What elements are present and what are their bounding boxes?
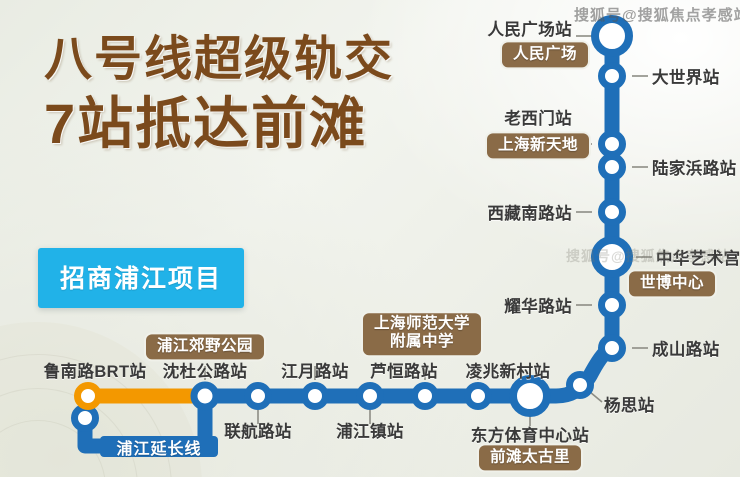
poi-pill-shnu-line2: 附属中学 [374,334,470,352]
station-label-lunan-road-brt: 鲁南路BRT站 [44,358,147,382]
poi-pill-pujiang-country-park: 浦江郊野公园 [144,332,266,361]
station-dot-chengshan-road[interactable] [602,338,623,359]
station-label-chengshan-road: 成山路站 [652,336,720,360]
watermark-top: 搜狐号@搜狐焦点孝感站 [574,4,740,25]
station-dot-lunan-road-brt[interactable] [78,386,99,407]
poi-pill-qiantan-taikoo: 前滩太古里 [477,443,583,472]
headline-block: 八号线超级轨交 7站抵达前滩 [44,36,394,152]
station-label-dashijie: 大世界站 [652,64,720,88]
station-label-renmin-square: 人民广场站 [488,16,573,40]
headline-line-1: 八号线超级轨交 [44,36,394,85]
extension-line-label: 浦江延长线 [116,435,201,459]
station-dot-xizang-south-road[interactable] [602,202,623,223]
station-dot-lujiabang-road[interactable] [602,157,623,178]
poi-pill-expo-center: 世博中心 [627,269,717,298]
poi-pill-renmin-square: 人民广场 [500,40,590,69]
station-dot-luheng-road[interactable] [415,386,436,407]
station-label-jiangyue-road: 江月路站 [281,358,349,382]
station-label-lingzhao-new-village: 凌兆新村站 [466,358,551,382]
poster-canvas: 八号线超级轨交 7站抵达前滩 招商浦江项目 [0,0,740,477]
project-badge: 招商浦江项目 [38,248,244,308]
station-label-xizang-south-road: 西藏南路站 [488,200,573,224]
station-dot-extension-terminus[interactable] [75,408,96,429]
watermark-middle: 搜狐号@搜狐焦点孝感站 [566,246,731,266]
station-dot-lianhang-road[interactable] [248,386,269,407]
station-label-lianhang-road: 联航路站 [224,418,292,442]
station-label-shendu-highway: 沈杜公路站 [163,358,248,382]
station-dot-dashijie[interactable] [602,66,623,87]
station-label-yangsi: 杨思站 [604,392,655,416]
station-dot-laoximen[interactable] [602,134,623,155]
headline-line-2: 7站抵达前滩 [44,95,394,152]
station-label-yaohua-road: 耀华路站 [504,293,572,317]
poi-pill-shnu-affiliated: 上海师范大学 附属中学 [361,311,483,357]
station-label-laoximen: 老西门站 [504,105,572,129]
station-label-lujiabang-road: 陆家浜路站 [652,155,737,179]
station-dot-oriental-sports[interactable] [513,379,547,413]
station-dot-shendu-highway[interactable] [194,385,216,407]
station-label-pujiangzhen: 浦江镇站 [336,418,404,442]
station-dot-jiangyue-road[interactable] [305,386,326,407]
station-dot-yangsi[interactable] [570,375,591,396]
station-dot-yaohua-road[interactable] [602,295,623,316]
poi-pill-xintiandi: 上海新天地 [485,131,591,160]
station-dot-lingzhao-new-village[interactable] [468,386,489,407]
station-dot-pujiangzhen[interactable] [360,386,381,407]
station-label-luheng-road: 芦恒路站 [370,358,438,382]
poi-pill-shnu-line1: 上海师范大学 [374,315,470,333]
